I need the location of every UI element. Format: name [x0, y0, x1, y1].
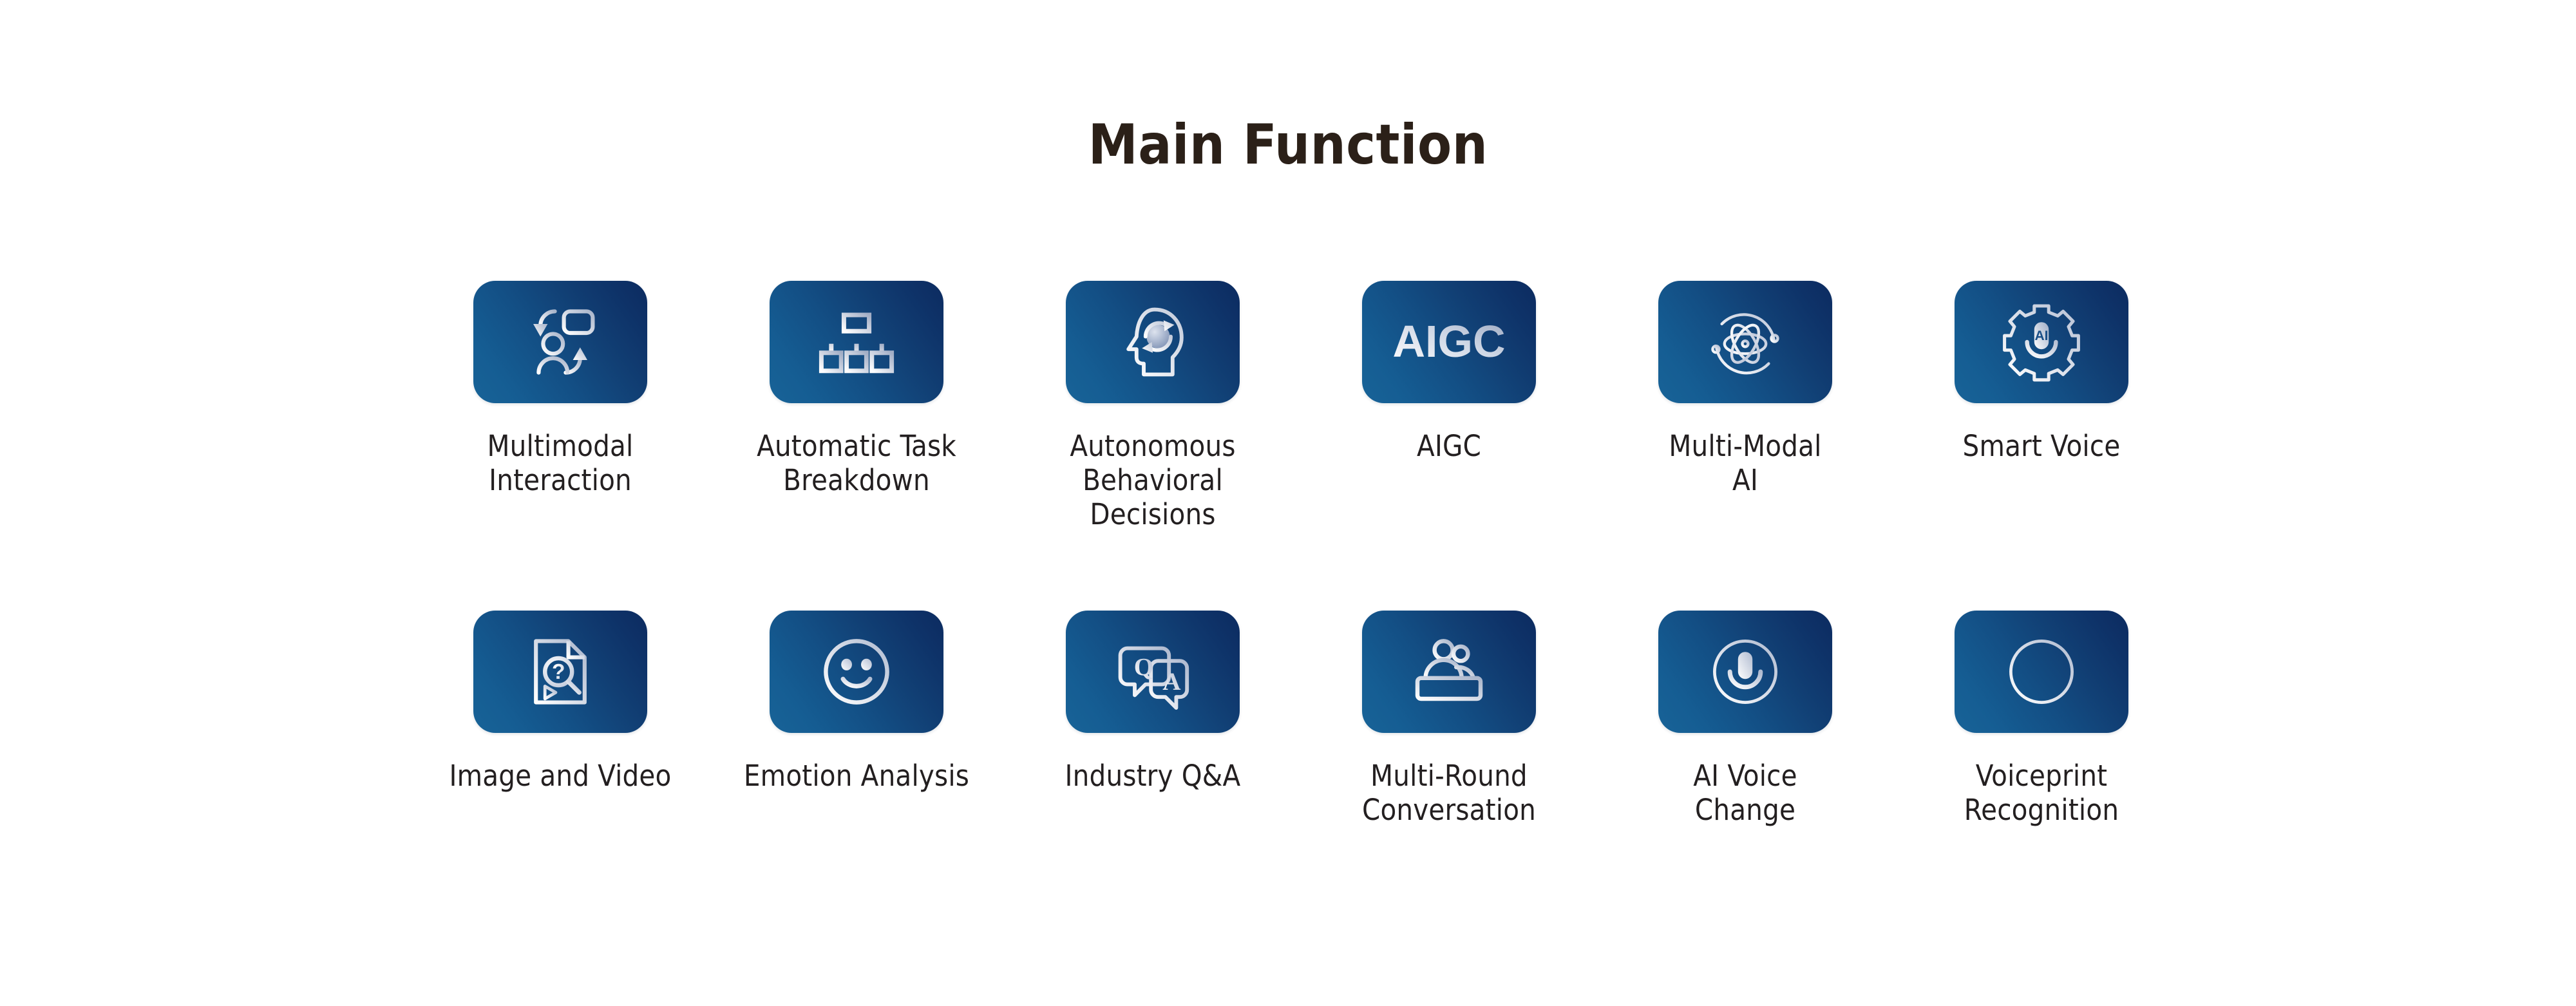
waveform-circle-icon — [1996, 627, 2087, 717]
feature-label: VoiceprintRecognition — [1964, 759, 2119, 827]
feature-label: Multi-ModalAI — [1669, 429, 1821, 497]
feature-item-multimodal-interaction[interactable]: MultimodalInteraction — [412, 281, 708, 497]
feature-label: Automatic TaskBreakdown — [757, 429, 956, 497]
gear-microphone-ai-icon: AI — [1996, 297, 2087, 387]
feature-tile[interactable] — [1658, 611, 1832, 733]
feature-item-multi-round-conversation[interactable]: Multi-RoundConversation — [1301, 611, 1597, 827]
feature-label: Industry Q&A — [1065, 759, 1241, 793]
feature-item-industry-qa[interactable]: Q A Industry Q&A — [1005, 611, 1301, 793]
feature-item-voiceprint-recognition[interactable]: VoiceprintRecognition — [1893, 611, 2190, 827]
feature-label: AutonomousBehavioralDecisions — [1070, 429, 1235, 531]
qa-speech-bubbles-icon: Q A — [1108, 627, 1198, 717]
head-refresh-icon — [1108, 297, 1198, 387]
feature-tile[interactable] — [1658, 281, 1832, 403]
feature-item-emotion-analysis[interactable]: Emotion Analysis — [708, 611, 1005, 793]
feature-label: AIGC — [1417, 429, 1481, 463]
feature-label: AI VoiceChange — [1693, 759, 1797, 827]
microphone-circle-icon — [1700, 627, 1790, 717]
ai-label: AI — [2035, 328, 2049, 343]
feature-label: MultimodalInteraction — [488, 429, 634, 497]
two-people-table-icon — [1404, 627, 1494, 717]
task-breakdown-hierarchy-icon — [811, 297, 902, 387]
feature-tile[interactable]: ? — [473, 611, 647, 733]
feature-row-2: ? Image and Video — [412, 611, 2190, 827]
aigc-label: AIGC — [1393, 316, 1506, 366]
feature-label: Image and Video — [449, 759, 671, 793]
feature-item-automatic-task-breakdown[interactable]: Automatic TaskBreakdown — [708, 281, 1005, 497]
feature-tile[interactable] — [1955, 611, 2128, 733]
feature-label: Emotion Analysis — [744, 759, 969, 793]
feature-label: Multi-RoundConversation — [1362, 759, 1536, 827]
atom-orbit-icon — [1700, 297, 1790, 387]
a-label: A — [1162, 668, 1181, 696]
feature-item-autonomous-behavioral-decisions[interactable]: AutonomousBehavioralDecisions — [1005, 281, 1301, 531]
multimodal-interaction-icon — [515, 297, 605, 387]
feature-tile[interactable] — [1362, 611, 1536, 733]
feature-label: Smart Voice — [1963, 429, 2121, 463]
smiley-face-icon — [811, 627, 902, 717]
q-label: Q — [1134, 654, 1153, 681]
feature-tile[interactable]: AIGC — [1362, 281, 1536, 403]
feature-tile[interactable]: Q A — [1066, 611, 1240, 733]
feature-tile[interactable]: AI — [1955, 281, 2128, 403]
feature-tile[interactable] — [1066, 281, 1240, 403]
aigc-text-icon: AIGC — [1393, 307, 1506, 377]
feature-item-smart-voice[interactable]: AI Smart Voice — [1893, 281, 2190, 463]
feature-item-image-and-video[interactable]: ? Image and Video — [412, 611, 708, 793]
feature-item-ai-voice-change[interactable]: AI VoiceChange — [1597, 611, 1893, 827]
document-search-play-icon: ? — [515, 627, 605, 717]
feature-item-aigc[interactable]: AIGC AIGC — [1301, 281, 1597, 463]
feature-row-1: MultimodalInteraction — [412, 281, 2190, 531]
feature-item-multi-modal-ai[interactable]: Multi-ModalAI — [1597, 281, 1893, 497]
main-function-page: Main Function — [0, 0, 2576, 1006]
feature-tile[interactable] — [473, 281, 647, 403]
feature-tile[interactable] — [770, 281, 943, 403]
page-title: Main Function — [0, 117, 2576, 173]
svg-text:?: ? — [552, 660, 565, 684]
feature-tile[interactable] — [770, 611, 943, 733]
